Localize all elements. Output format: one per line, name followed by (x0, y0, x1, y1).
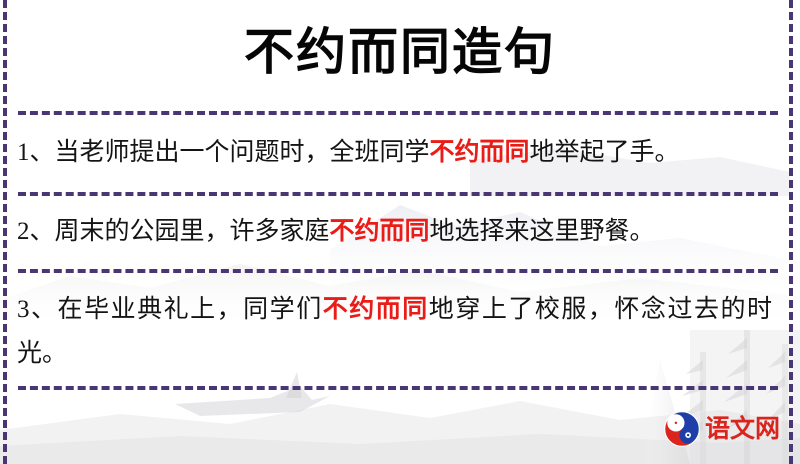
watermark-char-1: 语 (705, 414, 730, 443)
sentence-number-2: 2、 (17, 218, 55, 245)
idiom-highlight-1: 不约而同 (430, 139, 530, 166)
sentence-text-after-1: 地举起了手。 (530, 139, 680, 166)
sentence-item-2: 2、周末的公园里，许多家庭不约而同地选择来这里野餐。 (17, 210, 772, 254)
sentence-text-before-3: 在毕业典礼上，同学们 (58, 296, 323, 323)
site-watermark: 语文网 (664, 411, 780, 447)
idiom-highlight-3: 不约而同 (323, 296, 429, 323)
divider-below-sentence-3 (18, 386, 778, 390)
sentence-text-before-2: 周末的公园里，许多家庭 (55, 218, 330, 245)
sentence-text-after-2: 地选择来这里野餐。 (430, 218, 655, 245)
sentence-number-3: 3、 (17, 296, 58, 323)
sentence-item-3: 3、在毕业典礼上，同学们不约而同地穿上了校服，怀念过去的时光。 (17, 288, 772, 376)
sentence-number-1: 1、 (17, 139, 55, 166)
divider-above-sentence-1 (18, 111, 778, 115)
watermark-text: 语文网 (705, 414, 780, 444)
sentence-item-1: 1、当老师提出一个问题时，全班同学不约而同地举起了手。 (17, 131, 772, 175)
worksheet-page: 不约而同造句 1、当老师提出一个问题时，全班同学不约而同地举起了手。 2、周末的… (0, 0, 800, 464)
divider-above-sentence-2 (18, 192, 778, 196)
sentence-text-before-1: 当老师提出一个问题时，全班同学 (55, 139, 430, 166)
watermark-char-3: 网 (755, 414, 780, 443)
watermark-char-2: 文 (730, 414, 755, 443)
divider-above-sentence-3 (18, 269, 778, 273)
yinyang-logo-icon (664, 411, 700, 447)
idiom-highlight-2: 不约而同 (330, 218, 430, 245)
page-title: 不约而同造句 (0, 22, 800, 82)
